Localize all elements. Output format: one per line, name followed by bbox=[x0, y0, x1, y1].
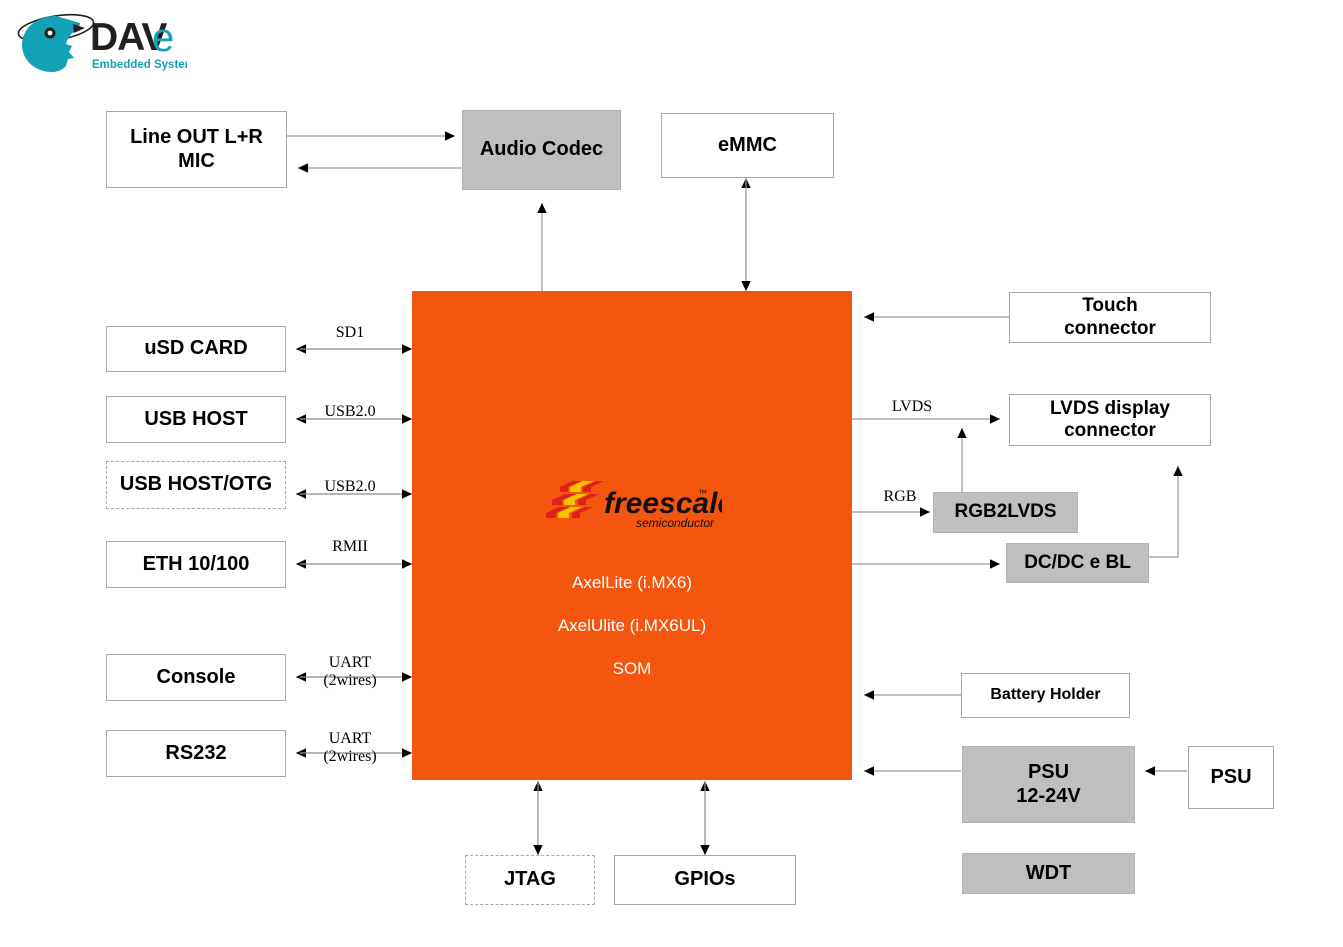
eye-pupil-icon bbox=[48, 31, 53, 36]
node-battery-holder[interactable]: Battery Holder bbox=[961, 673, 1130, 718]
node-emmc[interactable]: eMMC bbox=[661, 113, 834, 178]
bus-label-sd1: SD1 bbox=[305, 324, 395, 342]
bus-label-uart-rs232: UART (2wires) bbox=[305, 730, 395, 765]
node-psu-label: PSU bbox=[1210, 766, 1251, 790]
bus-label-usb20-host: USB2.0 bbox=[305, 403, 395, 421]
wire-dcdc-to-lvds-display bbox=[1148, 466, 1178, 557]
node-wdt-label: WDT bbox=[1026, 862, 1072, 886]
freescale-logo-artwork: freescale ™ semiconductor bbox=[542, 477, 722, 533]
node-gpios-label: GPIOs bbox=[674, 868, 735, 892]
head-profile-icon bbox=[22, 16, 80, 72]
node-psu[interactable]: PSU bbox=[1188, 746, 1274, 809]
bus-label-lvds: LVDS bbox=[880, 398, 944, 416]
node-rgb2lvds[interactable]: RGB2LVDS bbox=[933, 492, 1078, 533]
freescale-sub-wordmark: semiconductor bbox=[636, 516, 715, 530]
node-som-processor-module[interactable]: freescale ™ semiconductor AxelLite (i.MX… bbox=[412, 291, 852, 780]
node-rs232-label: RS232 bbox=[165, 742, 226, 766]
node-console-label: Console bbox=[157, 666, 236, 690]
dave-embedded-systems-logo: DAV e Embedded Systems bbox=[12, 6, 187, 76]
node-usd-card-label: uSD CARD bbox=[144, 337, 247, 361]
node-usd-card[interactable]: uSD CARD bbox=[106, 326, 286, 372]
freescale-chevron-icon bbox=[546, 481, 604, 518]
bus-label-uart-console: UART (2wires) bbox=[305, 654, 395, 689]
node-psu-12-24v[interactable]: PSU 12-24V bbox=[962, 746, 1135, 823]
logo-wordmark-e: e bbox=[152, 16, 174, 60]
node-touch-connector-label: Touch connector bbox=[1064, 295, 1156, 340]
som-part-axelulite: AxelUlite (i.MX6UL) bbox=[558, 616, 706, 636]
node-emmc-label: eMMC bbox=[718, 134, 777, 158]
som-part-axellite: AxelLite (i.MX6) bbox=[572, 573, 692, 593]
node-battery-holder-label: Battery Holder bbox=[990, 686, 1100, 705]
node-line-out-mic-label: Line OUT L+R MIC bbox=[130, 126, 263, 173]
node-line-out-mic[interactable]: Line OUT L+R MIC bbox=[106, 111, 287, 188]
logo-artwork: DAV e Embedded Systems bbox=[12, 6, 187, 76]
node-jtag[interactable]: JTAG bbox=[465, 855, 595, 905]
block-diagram-canvas: DAV e Embedded Systems bbox=[0, 0, 1343, 947]
node-usb-host-otg-label: USB HOST/OTG bbox=[120, 473, 272, 497]
node-rgb2lvds-label: RGB2LVDS bbox=[954, 501, 1056, 523]
node-eth-10-100[interactable]: ETH 10/100 bbox=[106, 541, 286, 588]
freescale-logo: freescale ™ semiconductor bbox=[542, 477, 722, 533]
node-eth-10-100-label: ETH 10/100 bbox=[143, 553, 250, 577]
som-type-label: SOM bbox=[613, 659, 652, 679]
node-lvds-display-connector-label: LVDS display connector bbox=[1050, 398, 1170, 443]
node-rs232[interactable]: RS232 bbox=[106, 730, 286, 777]
node-lvds-display-connector[interactable]: LVDS display connector bbox=[1009, 394, 1211, 446]
bus-label-rmii: RMII bbox=[305, 538, 395, 556]
bus-label-rgb: RGB bbox=[872, 488, 928, 506]
node-audio-codec[interactable]: Audio Codec bbox=[462, 110, 621, 190]
node-console[interactable]: Console bbox=[106, 654, 286, 701]
node-touch-connector[interactable]: Touch connector bbox=[1009, 292, 1211, 343]
node-jtag-label: JTAG bbox=[504, 868, 556, 892]
node-usb-host[interactable]: USB HOST bbox=[106, 396, 286, 443]
logo-tagline: Embedded Systems bbox=[92, 59, 187, 71]
node-gpios[interactable]: GPIOs bbox=[614, 855, 796, 905]
node-usb-host-label: USB HOST bbox=[144, 408, 247, 432]
node-dcdc-bl-label: DC/DC e BL bbox=[1024, 552, 1131, 574]
node-wdt[interactable]: WDT bbox=[962, 853, 1135, 894]
node-psu-12-24v-label: PSU 12-24V bbox=[1016, 761, 1081, 808]
node-usb-host-otg[interactable]: USB HOST/OTG bbox=[106, 461, 286, 509]
freescale-trademark-symbol: ™ bbox=[698, 488, 707, 498]
bus-label-usb20-otg: USB2.0 bbox=[305, 478, 395, 496]
node-dcdc-bl[interactable]: DC/DC e BL bbox=[1006, 543, 1149, 583]
node-audio-codec-label: Audio Codec bbox=[480, 138, 603, 162]
